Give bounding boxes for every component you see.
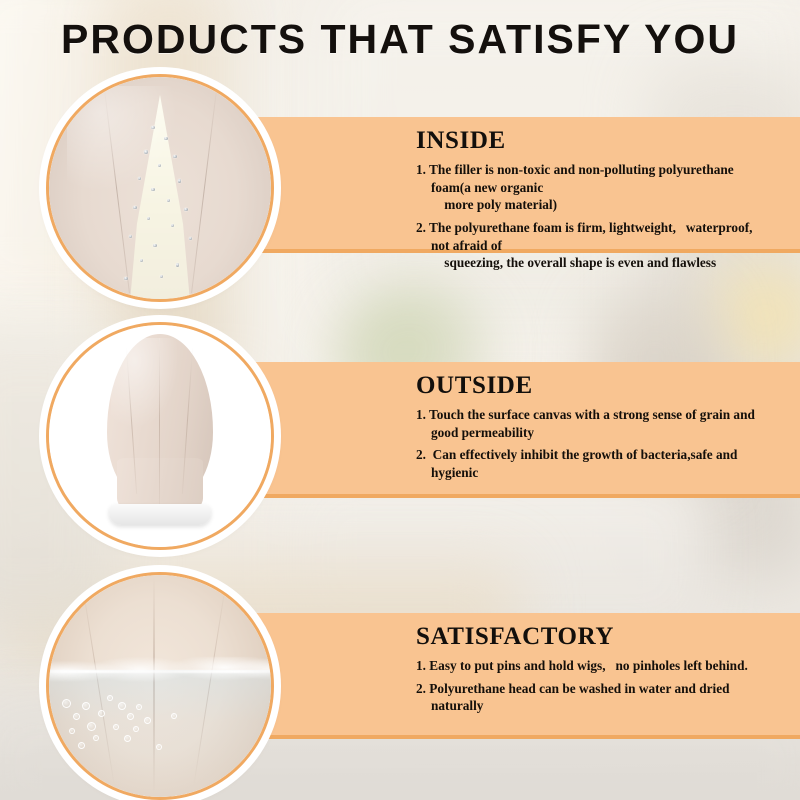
- section-heading-outside: OUTSIDE: [416, 372, 774, 400]
- list-item: 1. The filler is non-toxic and non-pollu…: [416, 161, 774, 214]
- page-title: PRODUCTS THAT SATISFY YOU: [0, 16, 800, 63]
- section-list-satisfactory: 1. Easy to put pins and hold wigs, no pi…: [416, 657, 774, 715]
- list-item: 2. Polyurethane head can be washed in wa…: [416, 680, 774, 715]
- section-list-outside: 1. Touch the surface canvas with a stron…: [416, 406, 774, 482]
- infographic-page: PRODUCTS THAT SATISFY YOU INSIDE 1. The …: [0, 0, 800, 800]
- list-item: 1. Touch the surface canvas with a stron…: [416, 406, 774, 441]
- section-heading-inside: INSIDE: [416, 127, 774, 155]
- list-item: 1. Easy to put pins and hold wigs, no pi…: [416, 657, 774, 675]
- section-panel-inside: INSIDE 1. The filler is non-toxic and no…: [200, 117, 800, 253]
- list-item: 2. The polyurethane foam is firm, lightw…: [416, 219, 774, 272]
- section-heading-satisfactory: SATISFACTORY: [416, 623, 774, 651]
- product-photo-satisfactory: [46, 572, 274, 800]
- section-list-inside: 1. The filler is non-toxic and non-pollu…: [416, 161, 774, 272]
- section-panel-satisfactory: SATISFACTORY 1. Easy to put pins and hol…: [200, 613, 800, 739]
- product-photo-outside: [46, 322, 274, 550]
- list-item: 2. Can effectively inhibit the growth of…: [416, 446, 774, 481]
- section-panel-outside: OUTSIDE 1. Touch the surface canvas with…: [200, 362, 800, 498]
- product-photo-inside: [46, 74, 274, 302]
